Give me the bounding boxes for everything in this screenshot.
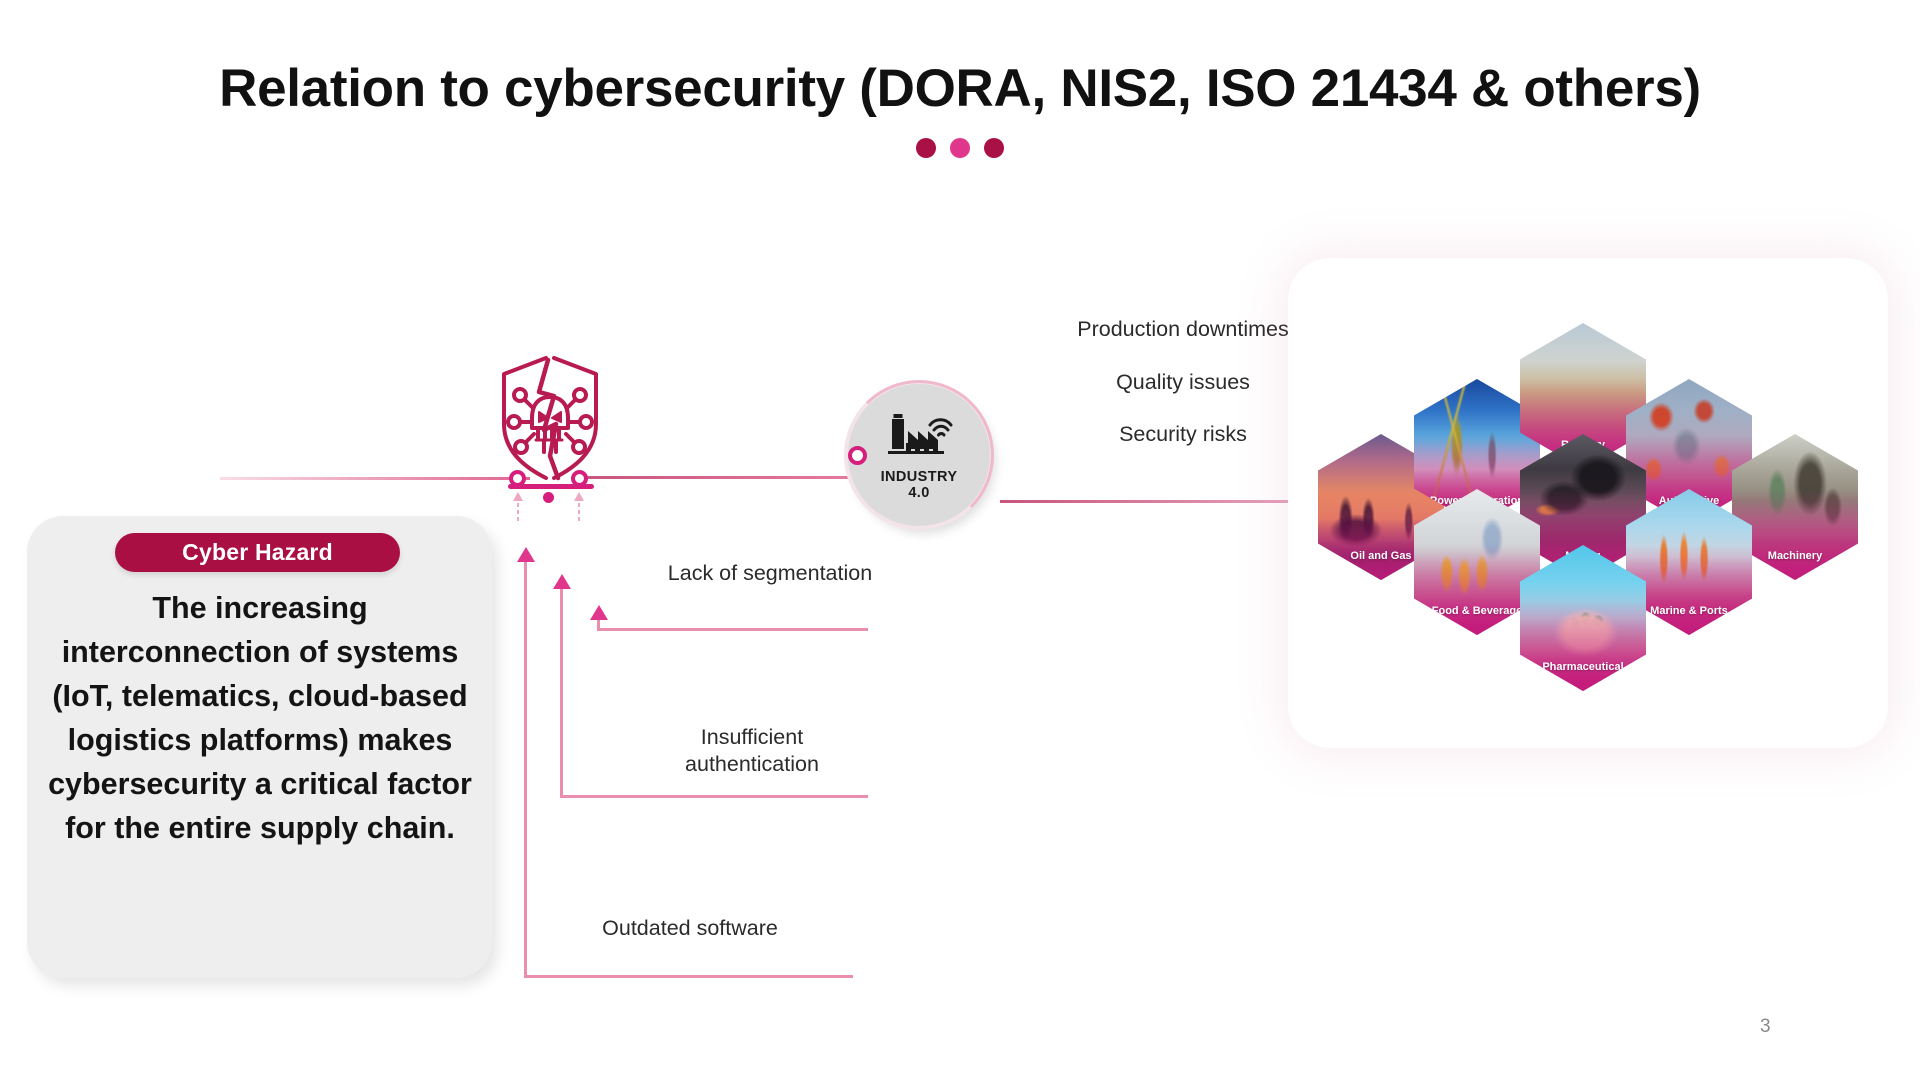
spine-line-right-of-shield xyxy=(578,476,856,479)
connector-hline-insufficient-authentication xyxy=(560,795,868,798)
connector-arrow-insufficient-authentication xyxy=(553,574,571,589)
connector-vline-insufficient-authentication xyxy=(560,586,563,798)
slide-number: 3 xyxy=(1760,1016,1771,1038)
weakness-label-outdated-software: Outdated software xyxy=(540,915,840,942)
connector-vline-outdated-software xyxy=(524,558,527,978)
title-dot-1 xyxy=(916,138,936,158)
mini-arrow-left-icon xyxy=(511,491,525,521)
weakness-label-insufficient-authentication: Insufficient authentication xyxy=(637,724,867,778)
node-ring-right xyxy=(571,470,588,487)
industry-to-sectors-line xyxy=(1000,500,1300,503)
page-title: Relation to cybersecurity (DORA, NIS2, I… xyxy=(0,58,1920,119)
connector-hline-outdated-software xyxy=(524,975,853,978)
cracked-shield-skull-icon xyxy=(492,352,608,484)
sectors-hexagon-grid: Oil and Gas Power Generation Refinery Au… xyxy=(1288,258,1888,748)
node-ring-left xyxy=(509,470,526,487)
connector-arrow-outdated-software xyxy=(517,547,535,562)
cyber-hazard-text: The increasing interconnection of system… xyxy=(43,586,477,850)
industry-node-connector-dot xyxy=(848,446,867,465)
title-dot-3 xyxy=(984,138,1004,158)
connector-arrow-lack-of-segmentation xyxy=(590,605,608,620)
cyber-hazard-badge: Cyber Hazard xyxy=(115,533,400,572)
balance-center-dot xyxy=(543,492,554,503)
slide-canvas: Relation to cybersecurity (DORA, NIS2, I… xyxy=(0,0,1920,1080)
title-dot-decoration xyxy=(0,138,1920,160)
hex-label: Pharmaceutical xyxy=(1520,661,1646,673)
weakness-label-lack-of-segmentation: Lack of segmentation xyxy=(655,560,885,587)
title-dot-2 xyxy=(950,138,970,158)
supply-chain-spine-line xyxy=(220,477,530,480)
connector-hline-lack-of-segmentation xyxy=(597,628,868,631)
mini-arrow-right-icon xyxy=(572,491,586,521)
